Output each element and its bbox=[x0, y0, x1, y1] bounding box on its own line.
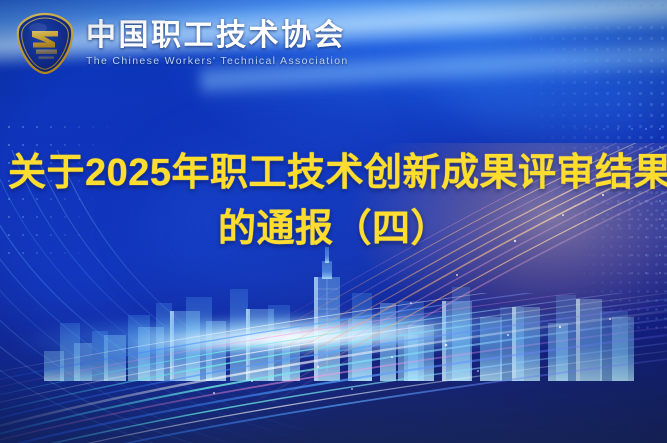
title-line-1: 关于2025年职工技术创新成果评审结果 bbox=[8, 145, 659, 201]
shield-emblem-icon bbox=[14, 11, 76, 75]
announcement-banner: 中国职工技术协会 The Chinese Workers' Technical … bbox=[0, 0, 667, 443]
horizon-glow-core bbox=[67, 324, 468, 354]
org-name-chinese: 中国职工技术协会 bbox=[86, 19, 349, 53]
banner-header: 中国职工技术协会 The Chinese Workers' Technical … bbox=[0, 0, 667, 86]
horizon-glow-band bbox=[0, 307, 667, 361]
title-line-2: 的通报（四） bbox=[8, 201, 659, 257]
light-stream-ribbons bbox=[0, 293, 667, 443]
org-name-block: 中国职工技术协会 The Chinese Workers' Technical … bbox=[86, 19, 349, 68]
announcement-title: 关于2025年职工技术创新成果评审结果 的通报（四） bbox=[0, 145, 667, 257]
org-name-english: The Chinese Workers' Technical Associati… bbox=[86, 55, 349, 67]
